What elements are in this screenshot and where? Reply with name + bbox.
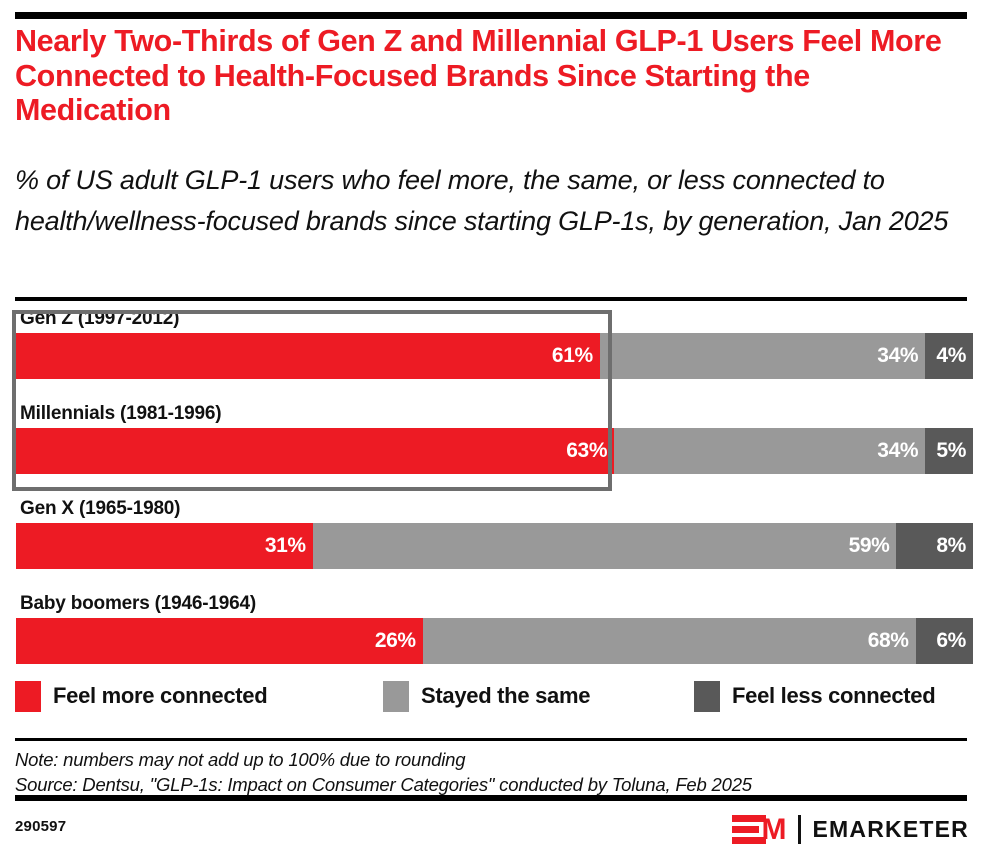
legend-label: Feel more connected [53,683,267,709]
bar-group-genx: Gen X (1965-1980) 31% 59% 8% [16,495,973,569]
bar-segment-feel-less: 4% [925,333,973,379]
bar-segment-stayed-same: 34% [614,428,925,474]
bar-value-label: 61% [552,344,600,368]
bar-segment-stayed-same: 59% [313,523,897,569]
bar-value-label: 31% [265,534,313,558]
legend-swatch-icon [15,681,41,712]
source-block: Note: numbers may not add up to 100% due… [15,747,967,797]
legend-label: Feel less connected [732,683,935,709]
bar-group-label: Gen Z (1997-2012) [16,305,973,333]
bar-value-label: 4% [936,344,973,368]
bar-value-label: 6% [936,629,973,653]
bar-group-millennials: Millennials (1981-1996) 63% 34% 5% [16,400,973,474]
page-title: Nearly Two-Thirds of Gen Z and Millennia… [15,24,955,128]
bar-value-label: 5% [936,439,973,463]
legend-item-stayed-the-same: Stayed the same [383,679,590,713]
legend-item-feel-more-connected: Feel more connected [15,679,267,713]
stacked-bar: 63% 34% 5% [16,428,973,474]
bar-value-label: 34% [877,344,925,368]
bar-segment-feel-more: 26% [16,618,423,664]
bar-value-label: 26% [375,629,423,653]
em-monogram-letter: M [762,815,794,844]
bar-segment-feel-more: 63% [16,428,614,474]
bar-segment-feel-more: 61% [16,333,600,379]
legend-label: Stayed the same [421,683,590,709]
chart-id: 290597 [15,818,66,835]
chart-note: Note: numbers may not add up to 100% due… [15,747,967,772]
source-bottom-rule [15,795,967,801]
bar-value-label: 68% [868,629,916,653]
bar-group-label: Gen X (1965-1980) [16,495,973,523]
stacked-bar: 31% 59% 8% [16,523,973,569]
bar-group-label: Millennials (1981-1996) [16,400,973,428]
stacked-bar-chart: Gen Z (1997-2012) 61% 34% 4% Millennials… [0,301,982,661]
brand-name: EMARKETER [813,816,969,843]
em-monogram-icon: M [732,814,794,844]
stacked-bar: 26% 68% 6% [16,618,973,664]
bar-segment-feel-less: 5% [925,428,973,474]
stacked-bar: 61% 34% 4% [16,333,973,379]
bar-value-label: 63% [566,439,614,463]
bar-segment-feel-more: 31% [16,523,313,569]
chart-page: Nearly Two-Thirds of Gen Z and Millennia… [0,0,982,856]
bar-value-label: 34% [877,439,925,463]
bar-segment-feel-less: 6% [916,618,973,664]
emarketer-logo: M EMARKETER [732,812,969,846]
chart-legend: Feel more connected Stayed the same Feel… [15,679,967,719]
chart-source: Source: Dentsu, "GLP-1s: Impact on Consu… [15,772,967,797]
logo-divider [798,815,801,844]
legend-bottom-rule [15,738,967,741]
top-rule [15,12,967,19]
bar-segment-stayed-same: 34% [600,333,925,379]
bar-group-baby-boomers: Baby boomers (1946-1964) 26% 68% 6% [16,590,973,664]
page-subtitle: % of US adult GLP-1 users who feel more,… [15,160,965,242]
legend-swatch-icon [694,681,720,712]
legend-item-feel-less-connected: Feel less connected [694,679,935,713]
bar-value-label: 59% [849,534,897,558]
bar-segment-stayed-same: 68% [423,618,916,664]
bar-segment-feel-less: 8% [896,523,973,569]
bar-value-label: 8% [936,534,973,558]
bar-group-label: Baby boomers (1946-1964) [16,590,973,618]
legend-swatch-icon [383,681,409,712]
bar-group-genz: Gen Z (1997-2012) 61% 34% 4% [16,305,973,379]
